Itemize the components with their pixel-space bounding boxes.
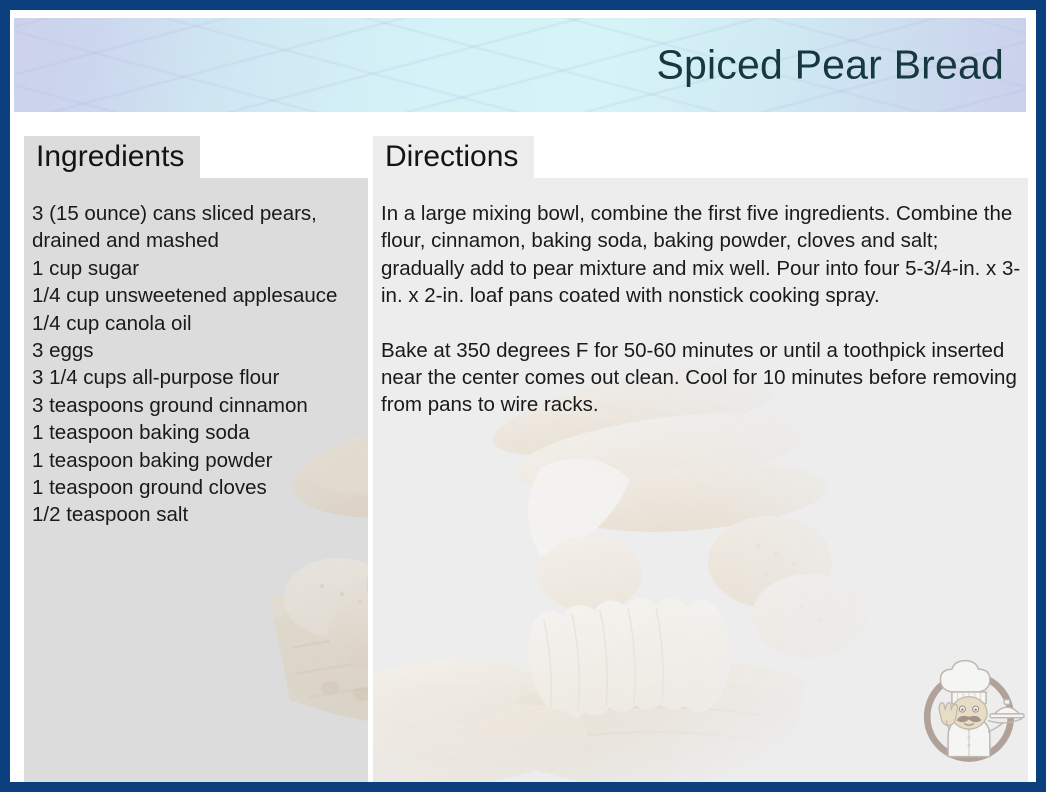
- chef-mascot-logo: [912, 654, 1026, 768]
- list-item: 3 1/4 cups all-purpose flour: [32, 364, 362, 391]
- list-item: 1 teaspoon baking powder: [32, 447, 362, 474]
- list-item: 1 teaspoon baking soda: [32, 419, 362, 446]
- slide-inner: Spiced Pear Bread: [10, 10, 1036, 782]
- list-item: 3 teaspoons ground cinnamon: [32, 392, 362, 419]
- list-item: 1 cup sugar: [32, 255, 362, 282]
- directions-text: In a large mixing bowl, combine the firs…: [381, 200, 1021, 419]
- tab-ingredients[interactable]: Ingredients: [24, 136, 200, 178]
- list-item: 3 eggs: [32, 337, 362, 364]
- tab-directions[interactable]: Directions: [373, 136, 534, 178]
- page-title: Spiced Pear Bread: [656, 42, 1004, 89]
- directions-paragraph: In a large mixing bowl, combine the firs…: [381, 200, 1021, 310]
- list-item: 1/2 teaspoon salt: [32, 501, 362, 528]
- title-banner: Spiced Pear Bread: [14, 18, 1026, 112]
- recipe-slide: Spiced Pear Bread: [0, 0, 1046, 792]
- list-item: 1/4 cup unsweetened applesauce: [32, 282, 362, 309]
- directions-paragraph: Bake at 350 degrees F for 50-60 minutes …: [381, 337, 1021, 419]
- list-item: 3 (15 ounce) cans sliced pears, drained …: [32, 200, 362, 255]
- content-area: Ingredients Directions 3 (15 ounce) cans…: [10, 120, 1036, 782]
- ingredients-list: 3 (15 ounce) cans sliced pears, drained …: [32, 200, 362, 529]
- list-item: 1/4 cup canola oil: [32, 310, 362, 337]
- list-item: 1 teaspoon ground cloves: [32, 474, 362, 501]
